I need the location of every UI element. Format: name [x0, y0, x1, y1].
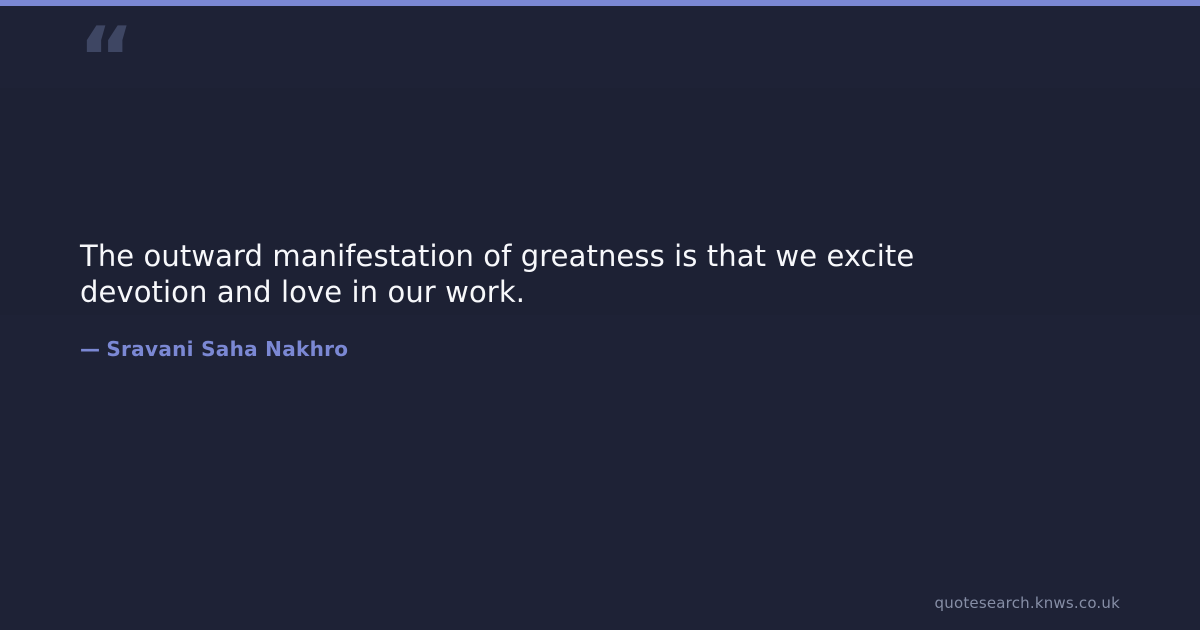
- quote-card: “ The outward manifestation of greatness…: [0, 0, 1200, 630]
- author-name: Sravani Saha Nakhro: [106, 337, 348, 361]
- quote-attribution: —Sravani Saha Nakhro: [80, 336, 1080, 362]
- site-footer-url: quotesearch.knws.co.uk: [935, 594, 1120, 612]
- top-accent-bar: [0, 0, 1200, 6]
- quote-text: The outward manifestation of greatness i…: [80, 238, 1010, 310]
- attribution-dash: —: [80, 337, 100, 361]
- open-quote-icon: “: [78, 16, 133, 102]
- quote-content: The outward manifestation of greatness i…: [80, 238, 1080, 362]
